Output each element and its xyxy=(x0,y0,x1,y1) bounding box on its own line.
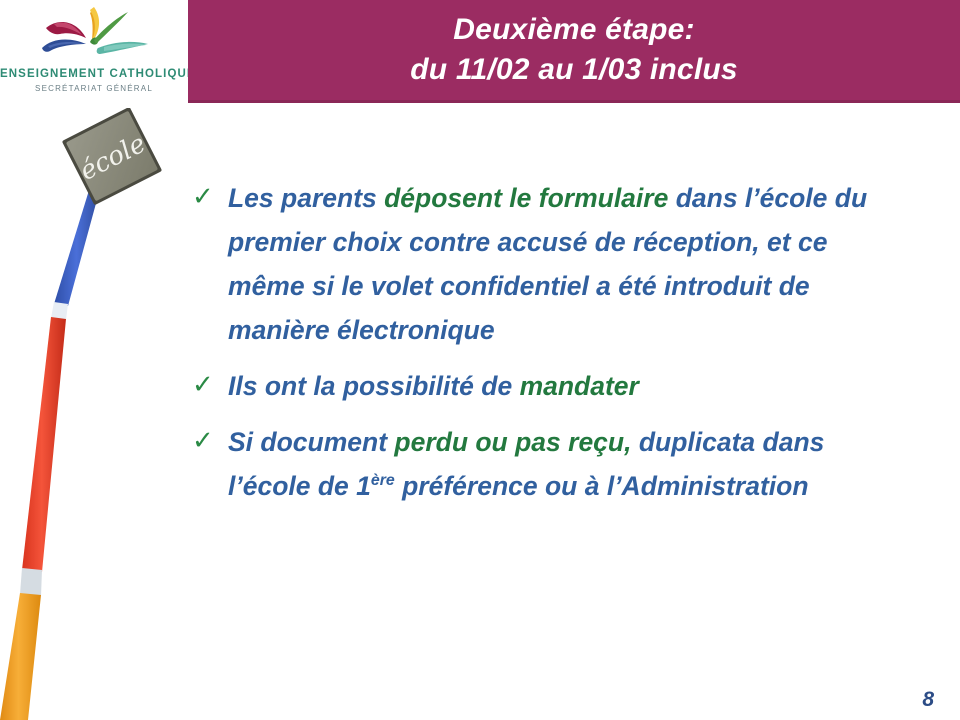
school-sign-plate: école xyxy=(62,108,162,205)
pole-segment-orange xyxy=(0,593,41,720)
title-line-1: Deuxième étape: xyxy=(453,10,694,50)
bullet-list: ✓ Les parents déposent le formulaire dan… xyxy=(190,176,890,520)
bullet-text-2: Ils ont la possibilité de mandater xyxy=(228,371,639,401)
school-signpost-illustration: école xyxy=(0,108,190,720)
school-sign-label: école xyxy=(75,129,150,187)
bullet-text-1: Les parents déposent le formulaire dans … xyxy=(228,183,867,345)
title-banner: Deuxième étape: du 11/02 au 1/03 inclus xyxy=(188,0,960,103)
logo-area: ENSEIGNEMENT CATHOLIQUE SECRÉTARIAT GÉNÉ… xyxy=(0,0,188,103)
pole-band-lower xyxy=(20,568,42,596)
text-segment: Les parents xyxy=(228,183,384,213)
slide-canvas: ENSEIGNEMENT CATHOLIQUE SECRÉTARIAT GÉNÉ… xyxy=(0,0,960,720)
text-segment: déposent le formulaire xyxy=(384,183,676,213)
text-segment: Si document xyxy=(228,427,394,457)
text-segment: ère xyxy=(371,472,395,489)
pole-segment-red xyxy=(22,317,66,572)
checkmark-icon: ✓ xyxy=(192,176,218,206)
pole-band-upper xyxy=(51,302,68,320)
checkmark-icon: ✓ xyxy=(192,364,218,394)
text-segment: Ils ont la possibilité de xyxy=(228,371,520,401)
logo-text-sub: SECRÉTARIAT GÉNÉRAL xyxy=(0,84,188,93)
list-item: ✓ Les parents déposent le formulaire dan… xyxy=(190,176,890,352)
logo-text-main: ENSEIGNEMENT CATHOLIQUE xyxy=(0,68,188,80)
pole-collar xyxy=(93,171,106,182)
bullet-text-3: Si document perdu ou pas reçu, duplicata… xyxy=(228,427,824,501)
text-segment: mandater xyxy=(520,371,639,401)
page-number: 8 xyxy=(922,688,934,712)
list-item: ✓ Si document perdu ou pas reçu, duplica… xyxy=(190,420,890,508)
pole-segment-blue xyxy=(54,174,104,306)
text-segment: perdu ou pas reçu, xyxy=(394,427,631,457)
list-item: ✓ Ils ont la possibilité de mandater xyxy=(190,364,890,408)
text-segment: préférence ou à l’Administration xyxy=(395,471,809,501)
enseignement-catholique-logo-mark xyxy=(24,4,166,62)
title-line-2: du 11/02 au 1/03 inclus xyxy=(410,50,738,90)
checkmark-icon: ✓ xyxy=(192,420,218,450)
